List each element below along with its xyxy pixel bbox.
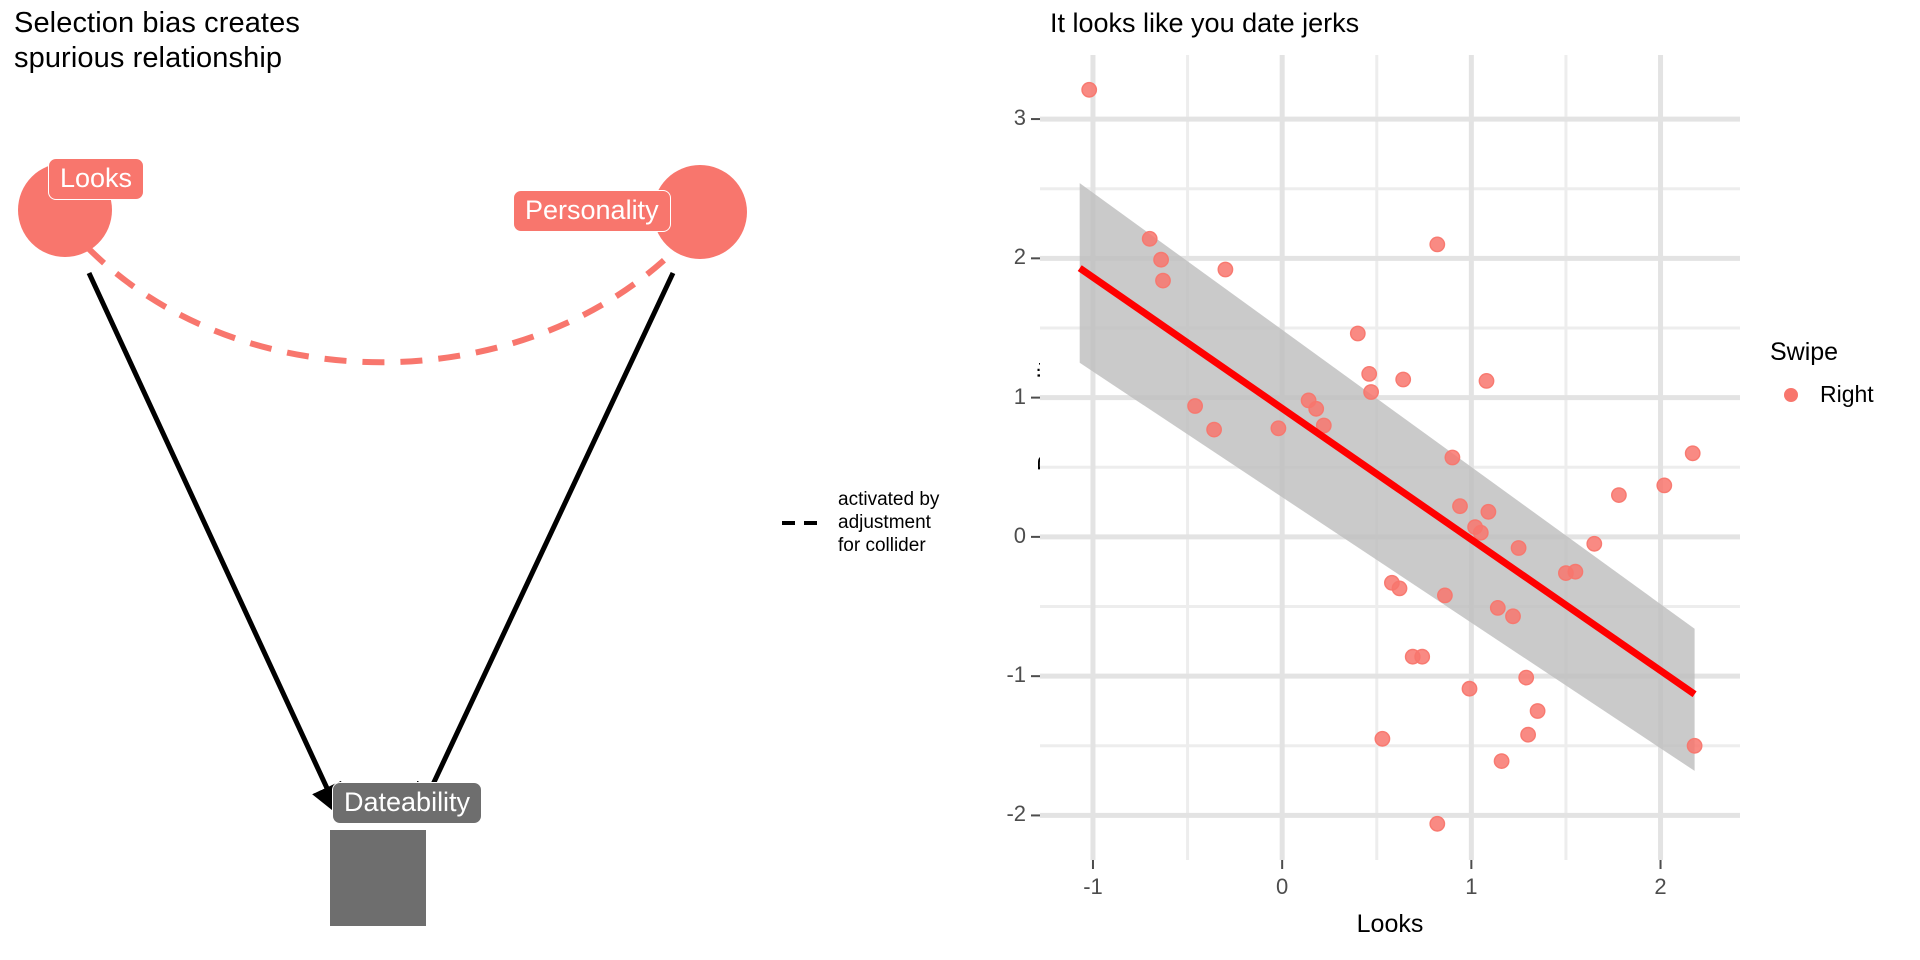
data-point[interactable] bbox=[1494, 754, 1508, 768]
data-point[interactable] bbox=[1511, 541, 1525, 555]
y-tick-label: 3 bbox=[982, 105, 1026, 131]
edge-looks-personality-dashed bbox=[88, 248, 675, 362]
dag-panel: Selection bias creates spurious relation… bbox=[0, 0, 1010, 960]
data-point[interactable] bbox=[1309, 402, 1323, 416]
data-point[interactable] bbox=[1430, 817, 1444, 831]
data-point[interactable] bbox=[1530, 704, 1544, 718]
swipe-legend-title: Swipe bbox=[1770, 338, 1920, 367]
data-point[interactable] bbox=[1438, 588, 1452, 602]
y-tick-label: 0 bbox=[982, 523, 1026, 549]
data-point[interactable] bbox=[1207, 422, 1221, 436]
data-point[interactable] bbox=[1143, 232, 1157, 246]
data-point[interactable] bbox=[1375, 732, 1389, 746]
node-label-dateability[interactable]: Dateability bbox=[332, 782, 482, 824]
legend-item-right[interactable]: Right bbox=[1770, 381, 1920, 408]
data-point[interactable] bbox=[1445, 450, 1459, 464]
legend-item-label: Right bbox=[1820, 381, 1874, 408]
data-point[interactable] bbox=[1462, 682, 1476, 696]
node-label-looks[interactable]: Looks bbox=[48, 158, 144, 200]
dashed-line-icon bbox=[780, 510, 828, 536]
data-point[interactable] bbox=[1521, 728, 1535, 742]
data-point[interactable] bbox=[1686, 446, 1700, 460]
data-point[interactable] bbox=[1491, 601, 1505, 615]
legend-key-icon bbox=[1784, 388, 1798, 402]
y-tick-label: -2 bbox=[982, 801, 1026, 827]
node-label-personality[interactable]: Personality bbox=[513, 190, 671, 232]
data-point[interactable] bbox=[1396, 372, 1410, 386]
data-point[interactable] bbox=[1154, 253, 1168, 267]
data-point[interactable] bbox=[1430, 237, 1444, 251]
data-point[interactable] bbox=[1587, 537, 1601, 551]
data-point[interactable] bbox=[1687, 739, 1701, 753]
swipe-legend: Swipe Right bbox=[1770, 338, 1920, 408]
data-point[interactable] bbox=[1156, 273, 1170, 287]
x-tick-label: 0 bbox=[1257, 874, 1307, 900]
data-point[interactable] bbox=[1351, 326, 1365, 340]
y-tick-label: -1 bbox=[982, 662, 1026, 688]
data-point[interactable] bbox=[1474, 526, 1488, 540]
dag-legend-label: activated by adjustment for collider bbox=[838, 488, 939, 557]
figure-root: Selection bias creates spurious relation… bbox=[0, 0, 1920, 960]
data-point[interactable] bbox=[1364, 385, 1378, 399]
data-point[interactable] bbox=[1218, 262, 1232, 276]
data-point[interactable] bbox=[1415, 650, 1429, 664]
data-point[interactable] bbox=[1188, 399, 1202, 413]
data-point[interactable] bbox=[1453, 499, 1467, 513]
dag-legend: activated by adjustment for collider bbox=[780, 488, 1000, 557]
scatter-panel: It looks like you date jerks Personality… bbox=[1010, 0, 1920, 960]
data-point[interactable] bbox=[1392, 581, 1406, 595]
data-point[interactable] bbox=[1519, 670, 1533, 684]
dag-graphic bbox=[0, 0, 1010, 960]
scatter-graphic bbox=[1010, 0, 1920, 960]
data-point[interactable] bbox=[1481, 505, 1495, 519]
data-point[interactable] bbox=[1657, 478, 1671, 492]
data-point[interactable] bbox=[1362, 367, 1376, 381]
data-point[interactable] bbox=[1479, 374, 1493, 388]
data-point[interactable] bbox=[1506, 609, 1520, 623]
x-tick-label: -1 bbox=[1068, 874, 1118, 900]
y-tick-label: 1 bbox=[982, 384, 1026, 410]
y-tick-label: 2 bbox=[982, 244, 1026, 270]
data-point[interactable] bbox=[1568, 565, 1582, 579]
x-tick-label: 1 bbox=[1446, 874, 1496, 900]
node-dateability[interactable] bbox=[330, 830, 426, 926]
data-point[interactable] bbox=[1271, 421, 1285, 435]
x-tick-label: 2 bbox=[1636, 874, 1686, 900]
data-point[interactable] bbox=[1082, 83, 1096, 97]
data-point[interactable] bbox=[1612, 488, 1626, 502]
